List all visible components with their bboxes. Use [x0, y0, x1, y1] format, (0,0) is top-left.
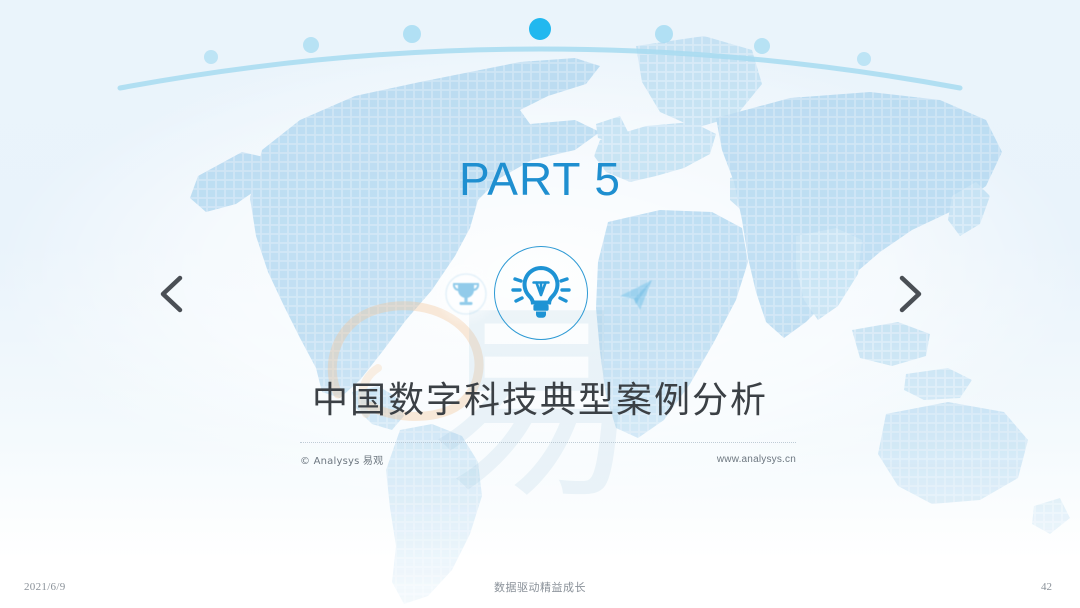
footer-page-number: 42 — [1041, 581, 1052, 593]
progress-dot[interactable] — [655, 25, 673, 43]
section-progress-indicator — [0, 460, 1080, 560]
slide-canvas: 易 PART 5 — [0, 0, 1080, 608]
progress-dot[interactable] — [303, 37, 319, 53]
progress-arc — [120, 49, 960, 88]
credit-divider — [300, 442, 796, 443]
progress-dot[interactable] — [857, 52, 871, 66]
progress-dot-active[interactable] — [529, 18, 551, 40]
page-title: 中国数字科技典型案例分析 — [0, 371, 1080, 423]
lightbulb-icon — [505, 257, 577, 329]
slide-footer: 2021/6/9 数据驱动精益成长 42 — [0, 566, 1080, 608]
progress-dot[interactable] — [204, 50, 218, 64]
trophy-icon — [444, 272, 488, 316]
current-section-icon — [494, 246, 588, 340]
section-icon-cluster — [0, 246, 1080, 342]
progress-dot[interactable] — [754, 38, 770, 54]
previous-section-icon-button[interactable] — [434, 262, 498, 326]
part-label: PART 5 — [0, 152, 1080, 206]
progress-dot[interactable] — [403, 25, 421, 43]
paper-plane-icon — [612, 270, 660, 318]
footer-center-text: 数据驱动精益成长 — [0, 579, 1080, 595]
next-section-icon-button[interactable] — [604, 262, 668, 326]
